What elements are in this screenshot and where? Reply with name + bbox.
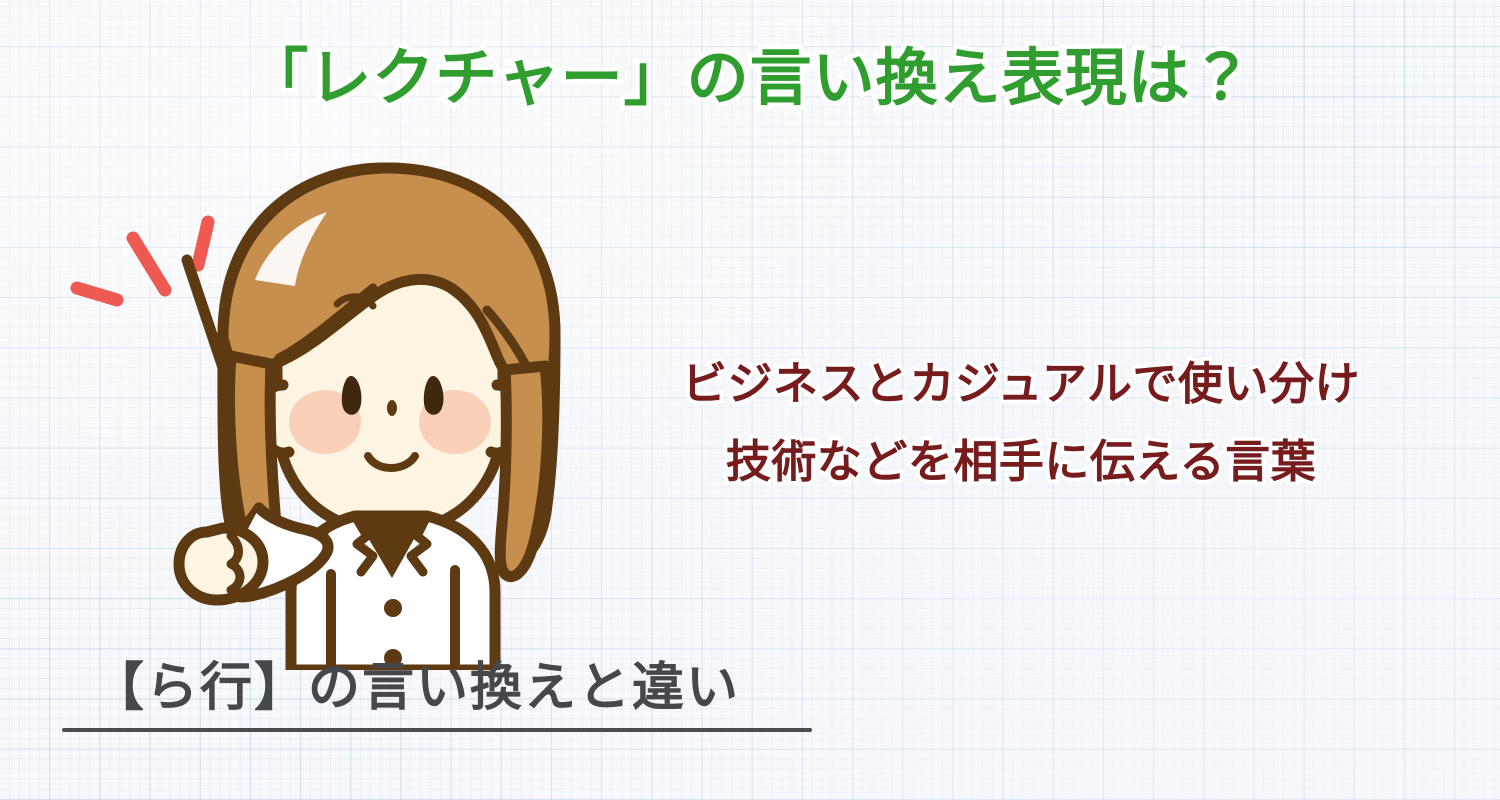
category-underline <box>62 728 812 732</box>
subtitle-line-2: 技術などを相手に伝える言葉 <box>645 423 1397 501</box>
page-title: 「レクチャー」の言い換え表現は？ <box>0 46 1500 111</box>
subtitle-line-1: ビジネスとカジュアルで使い分け <box>645 345 1397 423</box>
fist-icon <box>179 528 263 600</box>
nose-icon <box>387 400 397 416</box>
thumbnail-canvas: 「レクチャー」の言い換え表現は？ <box>0 0 1500 800</box>
woman-teacher-svg <box>55 160 615 670</box>
subtitle-block: ビジネスとカジュアルで使い分け 技術などを相手に伝える言葉 <box>645 345 1397 501</box>
category-block: 【ら行】の言い換えと違い <box>62 650 822 732</box>
illustration-woman-teacher <box>55 160 615 670</box>
category-label: 【ら行】の言い換えと違い <box>62 650 822 726</box>
